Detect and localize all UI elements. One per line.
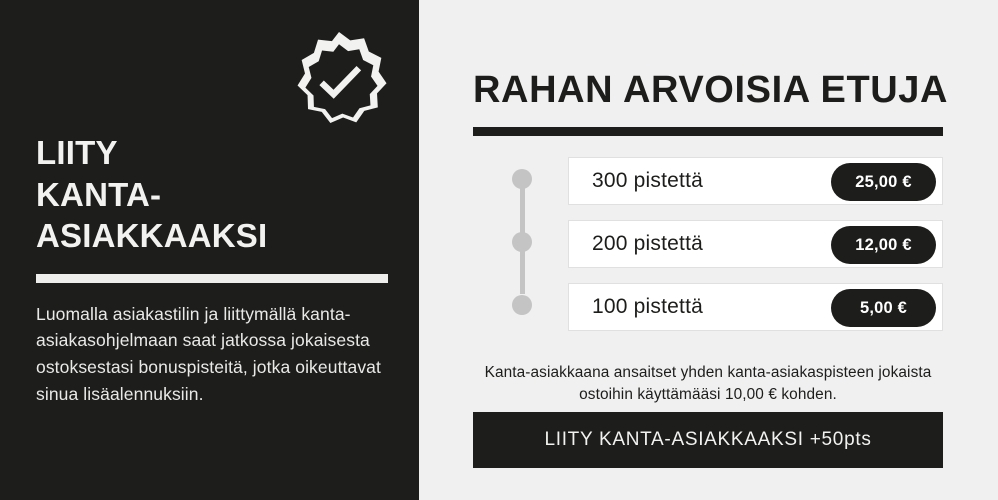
tier-value-badge: 5,00 € [831,289,936,327]
timeline-dot-tier-1 [512,169,532,189]
tier-value-badge: 25,00 € [831,163,936,201]
tier-value-badge: 12,00 € [831,226,936,264]
title-divider [36,274,388,283]
reward-tier-row[interactable]: 100 pistettä 5,00 € [568,283,943,331]
timeline-dot-tier-2 [512,232,532,252]
timeline-dot-tier-3 [512,295,532,315]
left-content: LIITY KANTA-ASIAKKAAKSI Luomalla asiakas… [36,132,392,425]
loyalty-program-banner: LIITY KANTA-ASIAKKAAKSI Luomalla asiakas… [0,0,998,500]
reward-tier-list: 300 pistettä 25,00 € 200 pistettä 12,00 … [568,157,943,331]
earning-rate-note: Kanta-asiakkaana ansaitset yhden kanta-a… [473,362,943,406]
reward-tier-row[interactable]: 300 pistettä 25,00 € [568,157,943,205]
benefits-heading: RAHAN ARVOISIA ETUJA [473,71,948,109]
verified-badge-check-icon [290,30,388,128]
tier-points-label: 200 pistettä [592,232,703,256]
tier-points-label: 100 pistettä [592,295,703,319]
tier-points-label: 300 pistettä [592,169,703,193]
page-title: LIITY KANTA-ASIAKKAAKSI [36,132,392,257]
join-loyalty-program-button[interactable]: LIITY KANTA-ASIAKKAAKSI +50pts [473,412,943,468]
intro-paragraph: Luomalla asiakastilin ja liittymällä kan… [36,301,388,407]
left-panel: LIITY KANTA-ASIAKKAAKSI Luomalla asiakas… [0,0,419,500]
tier-timeline [512,169,532,299]
right-panel: RAHAN ARVOISIA ETUJA 300 pistettä 25,00 … [419,0,998,500]
reward-tier-row[interactable]: 200 pistettä 12,00 € [568,220,943,268]
heading-underline [473,127,943,136]
reward-tiers-section: 300 pistettä 25,00 € 200 pistettä 12,00 … [473,157,943,331]
